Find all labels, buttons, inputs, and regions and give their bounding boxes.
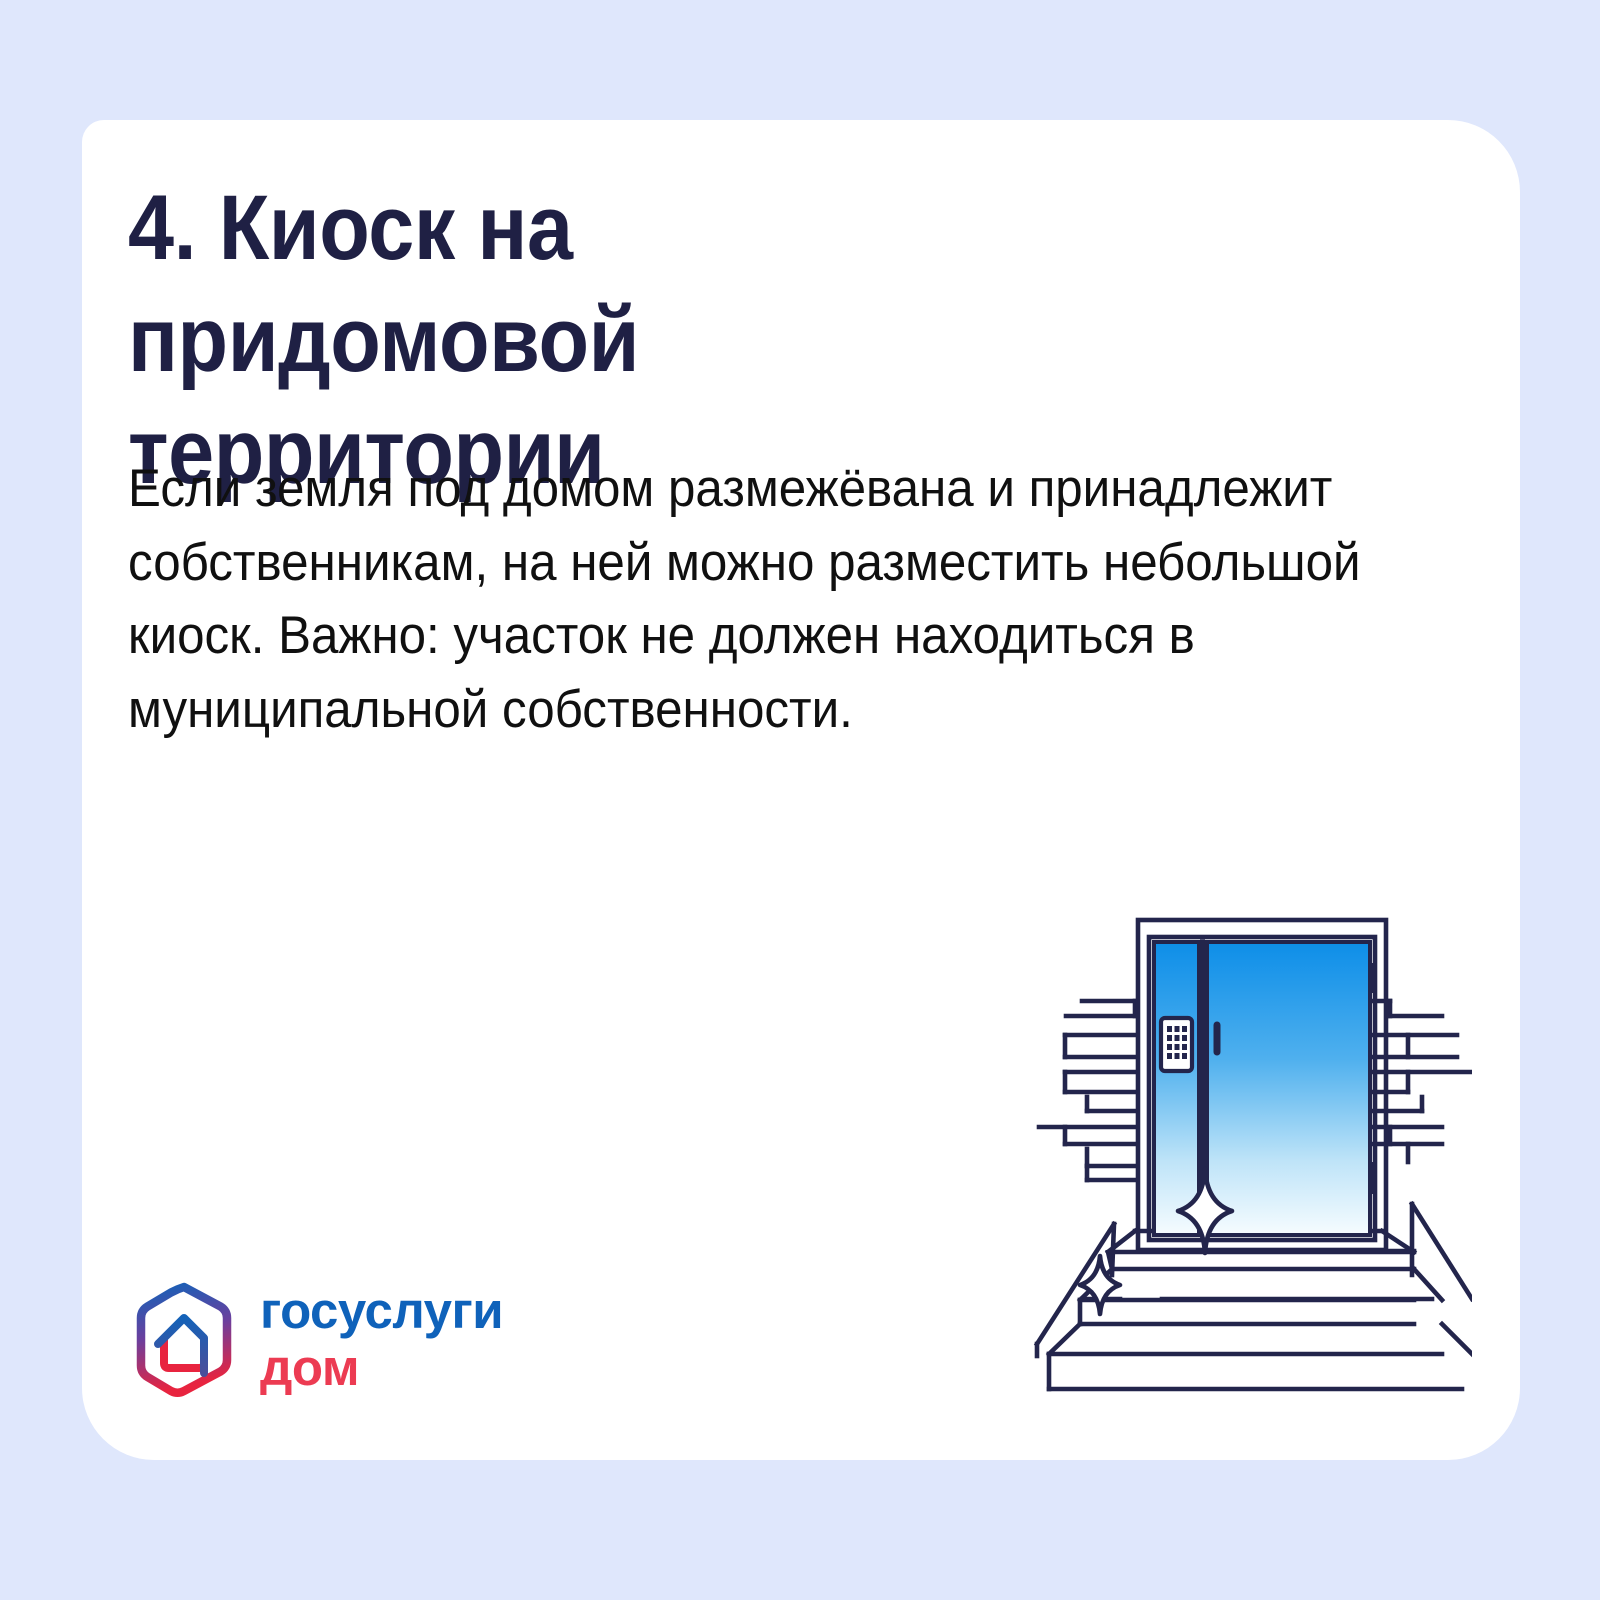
brand-wordmark-line1: госуслуги	[260, 1285, 503, 1336]
brick-wall-left	[1039, 1001, 1135, 1180]
brand-wordmark-line2: дом	[260, 1342, 503, 1393]
door-glass-panel-narrow	[1154, 942, 1199, 1235]
poster-canvas: 4. Киоск на придомовой территории Если з…	[0, 0, 1600, 1600]
intercom-keypad	[1161, 1018, 1192, 1071]
body-paragraph: Если земля под домом размежёвана и прина…	[128, 452, 1449, 747]
door-glass-panel-wide	[1207, 942, 1370, 1235]
ramp-right	[1412, 1204, 1472, 1299]
brand-wordmark: госуслуги дом	[260, 1285, 503, 1393]
content-card: 4. Киоск на придомовой территории Если з…	[82, 120, 1520, 1460]
brand-logo: госуслуги дом	[128, 1280, 503, 1398]
door-scene-svg	[1002, 894, 1472, 1414]
house-hexagon-icon	[128, 1280, 240, 1398]
body-text-block: Если земля под домом размежёвана и прина…	[128, 452, 1449, 747]
entrance-door-illustration	[1002, 894, 1472, 1414]
